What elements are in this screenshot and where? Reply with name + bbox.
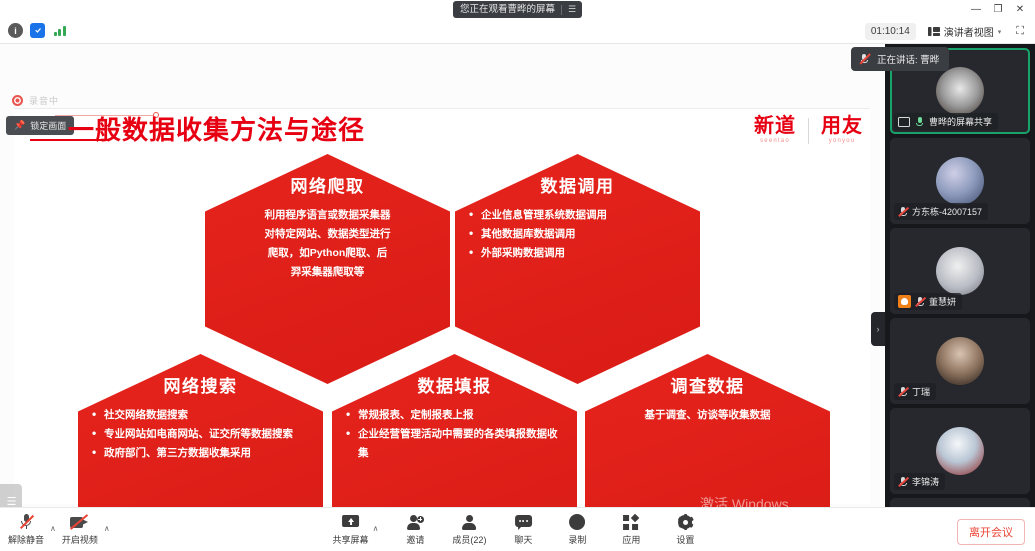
presentation-slide: 录音中 📌 锁定画面 一般数据收集方法与途径 新道 seentao bbox=[0, 44, 885, 507]
close-button[interactable]: ✕ bbox=[1009, 2, 1031, 17]
avatar bbox=[936, 337, 984, 385]
chevron-down-icon: ▾ bbox=[998, 28, 1002, 36]
settings-label: 设置 bbox=[676, 533, 694, 546]
participant-name: 丁瑞 bbox=[912, 385, 930, 398]
participant-tile[interactable]: 丁瑞 bbox=[890, 318, 1030, 404]
meeting-window: 您正在观看曹晔的屏幕 ☰ — ❐ ✕ i bbox=[0, 0, 1035, 551]
invite-button[interactable]: 邀请 bbox=[398, 513, 432, 546]
tile-label: 董慧妍 bbox=[894, 293, 962, 310]
screen-share-icon bbox=[898, 117, 910, 127]
chat-button[interactable]: 聊天 bbox=[506, 513, 540, 546]
tile-label: 方东栋-42007157 bbox=[894, 203, 988, 220]
tile-label: 李锦涛 bbox=[894, 473, 945, 490]
screen-share-banner[interactable]: 您正在观看曹晔的屏幕 ☰ bbox=[453, 1, 582, 18]
view-mode-selector[interactable]: 演讲者视图 ▾ bbox=[924, 22, 1006, 41]
meeting-timer: 01:10:14 bbox=[865, 23, 916, 40]
hamburger-menu-icon[interactable]: ☰ bbox=[568, 1, 575, 18]
network-signal-icon[interactable] bbox=[52, 23, 67, 38]
participant-name: 方东栋-42007157 bbox=[912, 205, 982, 218]
participants-button[interactable]: 成员(22) bbox=[452, 513, 486, 546]
hexagon-body: 利用程序语言或数据采集器 对特定网站、数据类型进行 爬取，如Python爬取、后… bbox=[255, 206, 401, 282]
unmute-label: 解除静音 bbox=[8, 533, 44, 546]
meeting-bottom-bar: 解除静音 ∧ 开启视频 ∧ 共享屏幕 ∧ bbox=[0, 507, 1035, 551]
record-button[interactable]: 录制 bbox=[560, 513, 594, 546]
avatar bbox=[936, 157, 984, 205]
hexagon-network-crawl: 网络爬取 利用程序语言或数据采集器 对特定网站、数据类型进行 爬取，如Pytho… bbox=[205, 154, 450, 384]
hexagon-body-line: 爬取，如Python爬取、后 bbox=[265, 244, 391, 263]
banner-divider bbox=[561, 5, 562, 15]
mic-muted-icon bbox=[898, 386, 908, 397]
camera-off-icon bbox=[70, 513, 89, 531]
participant-tile[interactable] bbox=[890, 498, 1030, 507]
participant-tile[interactable]: 方东栋-42007157 bbox=[890, 138, 1030, 224]
participant-name: 曹晔的屏幕共享 bbox=[929, 115, 992, 128]
tile-label: 丁瑞 bbox=[894, 383, 936, 400]
mic-muted-icon bbox=[898, 206, 908, 217]
window-title-bar: 您正在观看曹晔的屏幕 ☰ — ❐ ✕ bbox=[0, 0, 1035, 19]
hexagon-bullet-item: 企业信息管理系统数据调用 bbox=[467, 206, 688, 225]
hexagon-bullet-item: 常规报表、定制报表上报 bbox=[344, 406, 565, 425]
speaking-now-label: 正在讲话: 曹晔 bbox=[877, 52, 939, 66]
chevron-right-icon[interactable]: › bbox=[871, 312, 885, 346]
bottom-bar-right: 离开会议 bbox=[957, 519, 1025, 545]
shared-screen-stage[interactable]: 录音中 📌 锁定画面 一般数据收集方法与途径 新道 seentao bbox=[0, 44, 885, 507]
hexagon-title: 调查数据 bbox=[671, 372, 745, 397]
settings-button[interactable]: 设置 bbox=[668, 513, 702, 546]
record-label: 录制 bbox=[568, 533, 586, 546]
hexagon-survey-data: 调查数据 基于调查、访谈等收集数据 bbox=[585, 354, 830, 507]
hexagon-body-line: 利用程序语言或数据采集器 bbox=[265, 206, 391, 225]
participant-name: 董慧妍 bbox=[929, 295, 956, 308]
video-options-caret-icon[interactable]: ∧ bbox=[104, 524, 110, 533]
encryption-shield-icon[interactable] bbox=[30, 23, 45, 38]
hexagon-bullet-list: 社交网络数据搜索 专业网站如电商网站、证交所等数据搜索 政府部门、第三方数据收集… bbox=[78, 406, 323, 463]
top-bar-right-controls: 01:10:14 演讲者视图 ▾ ⛶ bbox=[865, 22, 1027, 41]
bottom-bar-center: 共享屏幕 ∧ 邀请 成员(22) bbox=[333, 513, 703, 546]
hexagon-network-search: 网络搜索 社交网络数据搜索 专业网站如电商网站、证交所等数据搜索 政府部门、第三… bbox=[78, 354, 323, 507]
mic-muted-icon bbox=[898, 476, 908, 487]
hexagon-title: 网络搜索 bbox=[164, 372, 238, 397]
hexagon-title: 网络爬取 bbox=[291, 172, 365, 197]
hexagon-bullet-list: 常规报表、定制报表上报 企业经营管理活动中需要的各类填报数据收集 bbox=[332, 406, 577, 463]
host-badge-icon bbox=[898, 295, 911, 308]
participants-label: 成员(22) bbox=[452, 533, 486, 546]
chat-icon bbox=[515, 513, 532, 531]
hexagon-bullet-item: 其他数据库数据调用 bbox=[467, 225, 688, 244]
record-icon bbox=[569, 513, 585, 531]
hexagon-body-line: 羿采集器爬取等 bbox=[265, 263, 391, 282]
hexagon-data-report: 数据填报 常规报表、定制报表上报 企业经营管理活动中需要的各类填报数据收集 bbox=[332, 354, 577, 507]
hexagon-body: 基于调查、访谈等收集数据 bbox=[635, 406, 781, 425]
participant-strip[interactable]: 曹晔的屏幕共享 方东栋-42007157 董慧妍 bbox=[885, 44, 1035, 507]
hexagon-title: 数据调用 bbox=[541, 172, 615, 197]
avatar bbox=[936, 427, 984, 475]
restore-button[interactable]: ❐ bbox=[987, 2, 1009, 17]
bottom-bar-left: 解除静音 ∧ 开启视频 ∧ bbox=[8, 513, 110, 546]
hexagon-bullet-item: 专业网站如电商网站、证交所等数据搜索 bbox=[90, 425, 311, 444]
hexagon-bullet-list: 企业信息管理系统数据调用 其他数据库数据调用 外部采购数据调用 bbox=[455, 206, 700, 263]
invite-icon bbox=[407, 513, 424, 531]
window-controls: — ❐ ✕ bbox=[965, 2, 1031, 17]
speaking-now-tooltip: 正在讲话: 曹晔 bbox=[851, 47, 949, 71]
settings-gear-icon bbox=[677, 513, 693, 531]
leave-meeting-button[interactable]: 离开会议 bbox=[957, 519, 1025, 545]
panel-collapse-icon[interactable]: ☰ bbox=[0, 484, 22, 507]
hexagon-bullet-item: 外部采购数据调用 bbox=[467, 244, 688, 263]
meeting-top-bar: i 01:10:14 演讲者 bbox=[0, 19, 1035, 44]
minimize-button[interactable]: — bbox=[965, 2, 987, 17]
info-icon[interactable]: i bbox=[8, 23, 23, 38]
screen-share-banner-text: 您正在观看曹晔的屏幕 bbox=[460, 1, 555, 18]
apps-button[interactable]: 应用 bbox=[614, 513, 648, 546]
view-mode-label: 演讲者视图 bbox=[944, 24, 994, 39]
hexagon-title: 数据填报 bbox=[418, 372, 492, 397]
chat-label: 聊天 bbox=[514, 533, 532, 546]
share-screen-button[interactable]: 共享屏幕 bbox=[333, 513, 369, 546]
avatar bbox=[936, 67, 984, 115]
start-video-label: 开启视频 bbox=[62, 533, 98, 546]
hexagon-data-invoke: 数据调用 企业信息管理系统数据调用 其他数据库数据调用 外部采购数据调用 bbox=[455, 154, 700, 384]
share-screen-icon bbox=[342, 513, 359, 531]
hexagon-body-line: 对特定网站、数据类型进行 bbox=[265, 225, 391, 244]
share-options-caret-icon[interactable]: ∧ bbox=[373, 524, 379, 533]
mic-muted-icon bbox=[20, 513, 33, 531]
fullscreen-icon[interactable]: ⛶ bbox=[1013, 25, 1027, 38]
hexagon-diagram: 网络爬取 利用程序语言或数据采集器 对特定网站、数据类型进行 爬取，如Pytho… bbox=[0, 44, 885, 507]
avatar bbox=[936, 247, 984, 295]
hexagon-bullet-item: 社交网络数据搜索 bbox=[90, 406, 311, 425]
participants-icon bbox=[462, 513, 476, 531]
participant-tile[interactable]: 李锦涛 bbox=[890, 408, 1030, 494]
tile-label: 曹晔的屏幕共享 bbox=[894, 113, 998, 130]
apps-icon bbox=[623, 513, 639, 531]
participant-tile[interactable]: 董慧妍 bbox=[890, 228, 1030, 314]
top-bar-left-icons: i bbox=[8, 23, 67, 38]
mic-muted-icon bbox=[915, 296, 925, 307]
invite-label: 邀请 bbox=[406, 533, 424, 546]
unmute-button[interactable]: 解除静音 bbox=[8, 513, 44, 546]
hexagon-bullet-item: 政府部门、第三方数据收集采用 bbox=[90, 444, 311, 463]
start-video-button[interactable]: 开启视频 bbox=[62, 513, 98, 546]
mic-on-icon bbox=[915, 116, 924, 127]
audio-options-caret-icon[interactable]: ∧ bbox=[50, 524, 56, 533]
mic-muted-icon bbox=[859, 53, 870, 65]
hexagon-bullet-item: 企业经营管理活动中需要的各类填报数据收集 bbox=[344, 425, 565, 463]
share-screen-label: 共享屏幕 bbox=[333, 533, 369, 546]
apps-label: 应用 bbox=[622, 533, 640, 546]
participant-name: 李锦涛 bbox=[912, 475, 939, 488]
speaker-view-icon bbox=[928, 26, 940, 37]
